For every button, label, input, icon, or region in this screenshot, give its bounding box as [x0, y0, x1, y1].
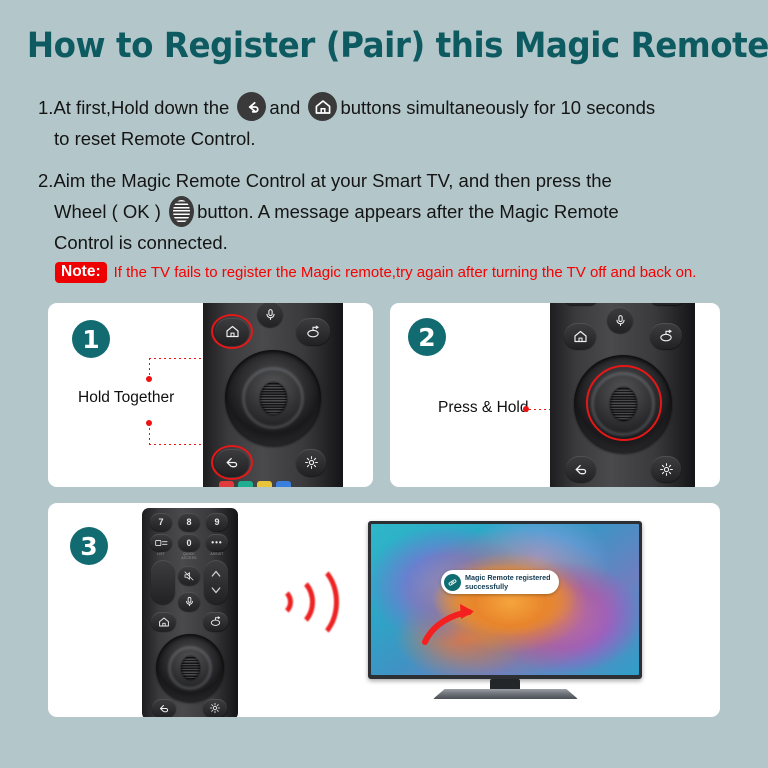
- panel-step-2: 2 Press & Hold: [390, 303, 720, 487]
- volume-rocker-top-2[interactable]: [564, 303, 598, 305]
- home-icon: [308, 92, 337, 121]
- key-0[interactable]: 0: [178, 534, 200, 551]
- remote-control-3: 7 8 9 LIST 0 QUICK ACCESS ••• ASSIST: [142, 508, 238, 717]
- panel-3-inner: 3 7 8 9 LIST 0 QUICK ACCESS •••: [48, 503, 720, 717]
- back-arrow-icon: [237, 92, 266, 121]
- key-0-label: 0: [186, 538, 191, 548]
- signal-waves: [263, 559, 333, 649]
- panel-step-1: 1 Hold Together: [48, 303, 373, 487]
- callout-line-bottom-vertical: [149, 423, 150, 445]
- wheel-hub-2: [610, 387, 637, 421]
- callout-label-press-hold: Press & Hold: [438, 399, 528, 417]
- wheel-ok-button-1[interactable]: [225, 350, 321, 446]
- step-1-text-c: buttons simultaneously for 10 seconds: [340, 97, 655, 118]
- key-7-label: 7: [158, 517, 163, 527]
- panel-2-inner: 2 Press & Hold: [390, 303, 720, 487]
- step-1-text-a: At first,Hold down the: [53, 97, 229, 118]
- wheel-ok-button-2[interactable]: [574, 355, 672, 453]
- channel-rocker-top-2[interactable]: [650, 303, 684, 305]
- key-more[interactable]: •••: [206, 534, 228, 551]
- microphone-button-2[interactable]: [607, 307, 633, 333]
- settings-button-1[interactable]: [296, 449, 326, 476]
- key-more-label: •••: [211, 538, 222, 547]
- wheel-hub-3: [181, 656, 200, 680]
- step-2-text-2a: Wheel ( OK ): [54, 201, 161, 222]
- step-1-line-2: to reset Remote Control.: [38, 123, 738, 154]
- instructions-block: 1.At first,Hold down the and buttons sim…: [38, 92, 738, 265]
- settings-button-2[interactable]: [651, 456, 681, 482]
- back-button-1[interactable]: [215, 449, 249, 476]
- panel-step-3: 3 7 8 9 LIST 0 QUICK ACCESS •••: [48, 503, 720, 717]
- tv-screen: Magic Remote registered successfully: [371, 524, 639, 675]
- key-7[interactable]: 7: [150, 513, 172, 531]
- tv-frame: Magic Remote registered successfully: [368, 521, 642, 679]
- key-8-label: 8: [186, 517, 191, 527]
- home-button-1[interactable]: [215, 318, 249, 345]
- input-switch-button-3[interactable]: [203, 612, 228, 631]
- tv-stand-base: [433, 689, 578, 699]
- key-9[interactable]: 9: [206, 513, 228, 531]
- step-2-number: 2.: [38, 170, 53, 191]
- home-button-2[interactable]: [564, 323, 596, 349]
- key-list[interactable]: [150, 534, 172, 551]
- wheel-ok-button-3[interactable]: [156, 634, 224, 702]
- link-chain-icon: [444, 574, 461, 591]
- remote-control-2: [550, 303, 695, 487]
- tv-pointer-arrow: [417, 590, 497, 650]
- key-0-sublabel: QUICK ACCESS: [178, 552, 200, 560]
- color-key-yellow[interactable]: [257, 481, 272, 487]
- step-2-line-2: Wheel ( OK ) button. A message appears a…: [38, 196, 738, 227]
- home-button-3[interactable]: [151, 612, 176, 631]
- color-key-green[interactable]: [238, 481, 253, 487]
- key-list-sublabel: LIST: [150, 552, 172, 556]
- step-number-badge-1: 1: [72, 320, 110, 358]
- color-keys-1: [219, 481, 291, 487]
- key-9-label: 9: [214, 517, 219, 527]
- note-text: If the TV fails to register the Magic re…: [114, 264, 697, 281]
- step-1-text-b: and: [269, 97, 300, 118]
- callout-line-top-vertical: [149, 358, 150, 378]
- channel-rocker-3[interactable]: [204, 560, 228, 604]
- scroll-wheel-icon: [169, 196, 194, 227]
- step-1-number: 1.: [38, 97, 53, 118]
- microphone-button-3[interactable]: [178, 592, 200, 611]
- back-button-3[interactable]: [152, 699, 176, 717]
- microphone-button-1[interactable]: [257, 303, 283, 327]
- step-2-text-1: Aim the Magic Remote Control at your Sma…: [53, 170, 611, 191]
- color-key-red[interactable]: [219, 481, 234, 487]
- step-2-line-3: Control is connected.: [38, 227, 738, 258]
- note-badge: Note:: [55, 262, 107, 283]
- key-8[interactable]: 8: [178, 513, 200, 531]
- key-more-sublabel: ASSIST: [206, 552, 228, 556]
- input-switch-button-1[interactable]: [296, 318, 330, 345]
- volume-rocker-3[interactable]: [151, 560, 175, 604]
- note-banner: Note: If the TV fails to register the Ma…: [55, 262, 696, 283]
- instruction-step-1: 1.At first,Hold down the and buttons sim…: [38, 92, 738, 154]
- step-number-badge-3: 3: [70, 527, 108, 565]
- toast-text: Magic Remote registered successfully: [465, 573, 550, 591]
- mute-button-3[interactable]: [178, 566, 200, 585]
- page-title: How to Register (Pair) this Magic Remote: [27, 26, 741, 66]
- settings-button-3[interactable]: [203, 699, 227, 717]
- callout-label-hold-together: Hold Together: [78, 389, 174, 407]
- step-2-text-2b: button. A message appears after the Magi…: [197, 201, 619, 222]
- back-button-2[interactable]: [566, 456, 596, 482]
- step-number-badge-2: 2: [408, 318, 446, 356]
- wheel-hub-1: [260, 382, 287, 415]
- panel-1-inner: 1 Hold Together: [48, 303, 373, 487]
- wheel-lines: [173, 200, 190, 223]
- television: Magic Remote registered successfully: [368, 521, 658, 706]
- step-2-line-1: 2.Aim the Magic Remote Control at your S…: [38, 165, 738, 196]
- signal-wave-3: [277, 561, 339, 643]
- instruction-step-2: 2.Aim the Magic Remote Control at your S…: [38, 165, 738, 258]
- input-switch-button-2[interactable]: [650, 323, 682, 349]
- color-key-blue[interactable]: [276, 481, 291, 487]
- step-1-line-1: 1.At first,Hold down the and buttons sim…: [38, 92, 738, 123]
- remote-control-1: [203, 303, 343, 487]
